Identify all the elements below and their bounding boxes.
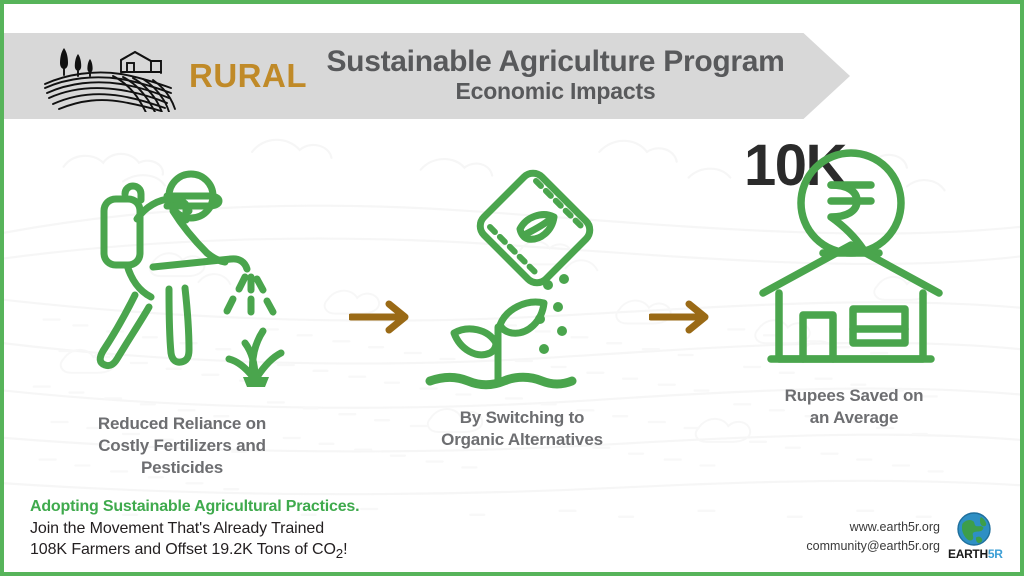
farmer-spraying-pesticide-icon: [57, 149, 307, 399]
infographic-poster: RURAL Sustainable Agriculture Program Ec…: [0, 0, 1024, 576]
house-with-rupee-coin-icon: [749, 137, 959, 367]
earth5r-logo: EARTH5R: [948, 512, 1000, 561]
caption-line: Costly Fertilizers and: [98, 435, 266, 457]
caption-line: an Average: [785, 407, 924, 429]
earth5r-wordmark: EARTH5R: [948, 547, 1000, 561]
panel-organic-alternatives: By Switching to Organic Alternatives: [392, 129, 652, 474]
contact-info: www.earth5r.org community@earth5r.org: [806, 518, 940, 554]
footer-line-3-pre: 108K Farmers and Offset 19.2K Tons of CO: [30, 541, 336, 558]
caption-line: Rupees Saved on: [785, 385, 924, 407]
website-link[interactable]: www.earth5r.org: [806, 518, 940, 536]
panel-rupees-saved: Rupees Saved on an Average: [704, 129, 1004, 474]
panel-caption: Rupees Saved on an Average: [785, 385, 924, 429]
farm-fields-logo-icon: [37, 40, 177, 112]
brand-block: RURAL: [37, 40, 307, 112]
footer-line-3: 108K Farmers and Offset 19.2K Tons of CO…: [30, 539, 550, 563]
email-link[interactable]: community@earth5r.org: [806, 537, 940, 555]
footer-line-3-subscript: 2: [336, 546, 343, 561]
footer-contact-block: www.earth5r.org community@earth5r.org EA…: [806, 512, 1000, 561]
footer-message: Adopting Sustainable Agricultural Practi…: [30, 496, 550, 562]
caption-line: Reduced Reliance on: [98, 413, 266, 435]
header-banner: RURAL Sustainable Agriculture Program Ec…: [4, 33, 850, 119]
panel-reduced-reliance: Reduced Reliance on Costly Fertilizers a…: [22, 129, 342, 474]
header-title-block: Sustainable Agriculture Program Economic…: [313, 46, 798, 106]
brand-name: RURAL: [189, 57, 307, 95]
arrow-panel1-to-panel2: [349, 300, 413, 334]
footer-headline: Adopting Sustainable Agricultural Practi…: [30, 496, 550, 518]
footer-line-3-post: !: [343, 541, 347, 558]
page-subtitle: Economic Impacts: [313, 77, 798, 106]
page-title: Sustainable Agriculture Program: [313, 46, 798, 78]
earth5r-word-dark: EARTH: [948, 547, 988, 561]
caption-line: By Switching to: [441, 407, 603, 429]
caption-line: Pesticides: [98, 457, 266, 479]
arrow-panel2-to-panel3: [649, 300, 713, 334]
panel-caption: By Switching to Organic Alternatives: [441, 407, 603, 451]
panels-row: Reduced Reliance on Costly Fertilizers a…: [4, 129, 1020, 474]
earth5r-word-blue: 5R: [988, 547, 1003, 561]
seed-bag-pouring-onto-sprout-icon: [412, 167, 632, 397]
panel-caption: Reduced Reliance on Costly Fertilizers a…: [98, 413, 266, 478]
earth-globe-icon: [957, 512, 991, 546]
caption-line: Organic Alternatives: [441, 429, 603, 451]
footer-line-2: Join the Movement That's Already Trained: [30, 518, 550, 539]
